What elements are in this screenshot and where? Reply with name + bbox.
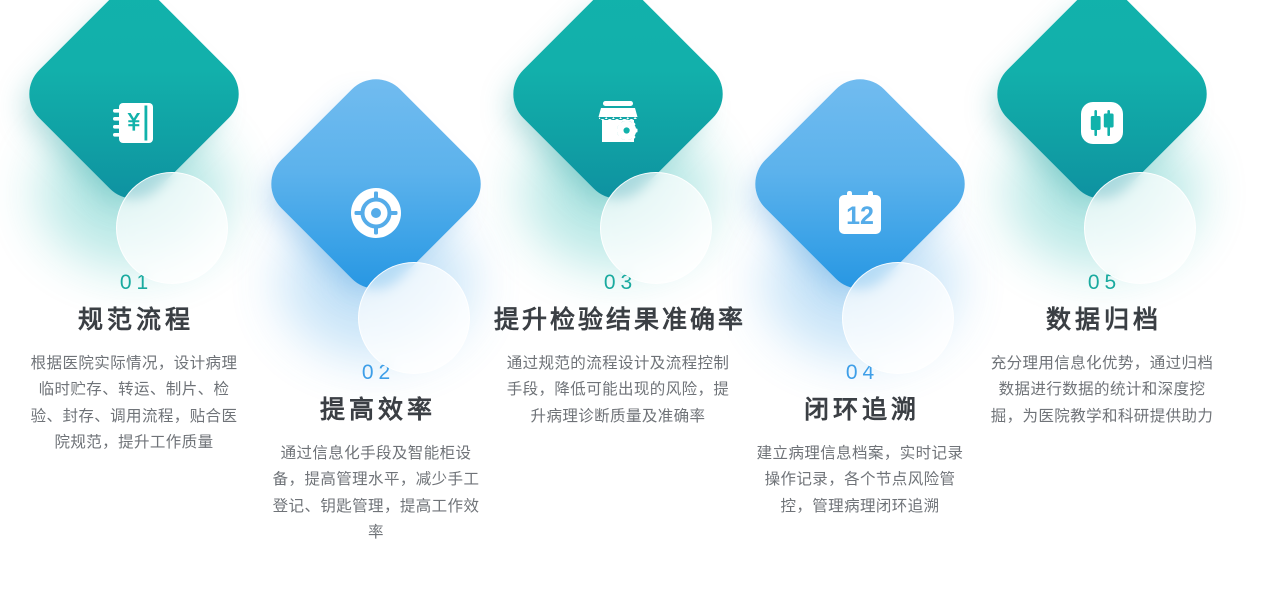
step-visual-02 [252, 90, 500, 362]
step-description: 通过规范的流程设计及流程控制手段，降低可能出现的风险，提升病理诊断质量及准确率 [504, 351, 732, 431]
step-card-03[interactable]: 03 提升检验结果准确率 通过规范的流程设计及流程控制手段，降低可能出现的风险，… [494, 0, 742, 430]
step-title: 提高效率 [316, 397, 436, 425]
glass-circle [1084, 172, 1196, 284]
step-description: 通过信息化手段及智能柜设备，提高管理水平，减少手工登记、钥匙管理，提高工作效率 [269, 441, 484, 548]
step-description: 建立病理信息档案，实时记录操作记录，各个节点风险管控，管理病理闭环追溯 [753, 441, 968, 521]
step-visual-04: 12 [736, 90, 984, 362]
glass-circle [358, 262, 470, 374]
glass-circle [600, 172, 712, 284]
step-visual-03 [494, 0, 742, 272]
step-card-02[interactable]: 02 提高效率 通过信息化手段及智能柜设备，提高管理水平，减少手工登记、钥匙管理… [252, 90, 500, 547]
calendar-12-icon: 12 [831, 184, 889, 242]
notebook-yuan-icon [105, 94, 163, 152]
step-card-04[interactable]: 12 04 闭环追溯 建立病理信息档案，实时记录操作记录，各个节点风险管控，管理… [736, 90, 984, 520]
step-description: 根据医院实际情况，设计病理临时贮存、转运、制片、检验、封存、调用流程，贴合医院规… [27, 351, 242, 458]
step-card-05[interactable]: 05 数据归档 充分理用信息化优势，通过归档数据进行数据的统计和深度挖掘，为医院… [978, 0, 1226, 430]
shop-gear-icon [589, 94, 647, 152]
glass-circle [842, 262, 954, 374]
step-visual-05 [978, 0, 1226, 272]
step-title: 提升检验结果准确率 [490, 307, 746, 335]
step-title: 闭环追溯 [800, 397, 920, 425]
glass-circle [116, 172, 228, 284]
step-title: 数据归档 [1042, 307, 1162, 335]
candlestick-chart-icon [1073, 94, 1131, 152]
step-visual-01 [10, 0, 258, 272]
svg-text:12: 12 [846, 202, 874, 230]
target-crosshair-icon [347, 184, 405, 242]
step-description: 充分理用信息化优势，通过归档数据进行数据的统计和深度挖掘，为医院教学和科研提供助… [988, 351, 1216, 431]
step-card-01[interactable]: 01 规范流程 根据医院实际情况，设计病理临时贮存、转运、制片、检验、封存、调用… [10, 0, 258, 457]
infographic-stage: 01 规范流程 根据医院实际情况，设计病理临时贮存、转运、制片、检验、封存、调用… [0, 0, 1268, 607]
step-title: 规范流程 [74, 307, 194, 335]
